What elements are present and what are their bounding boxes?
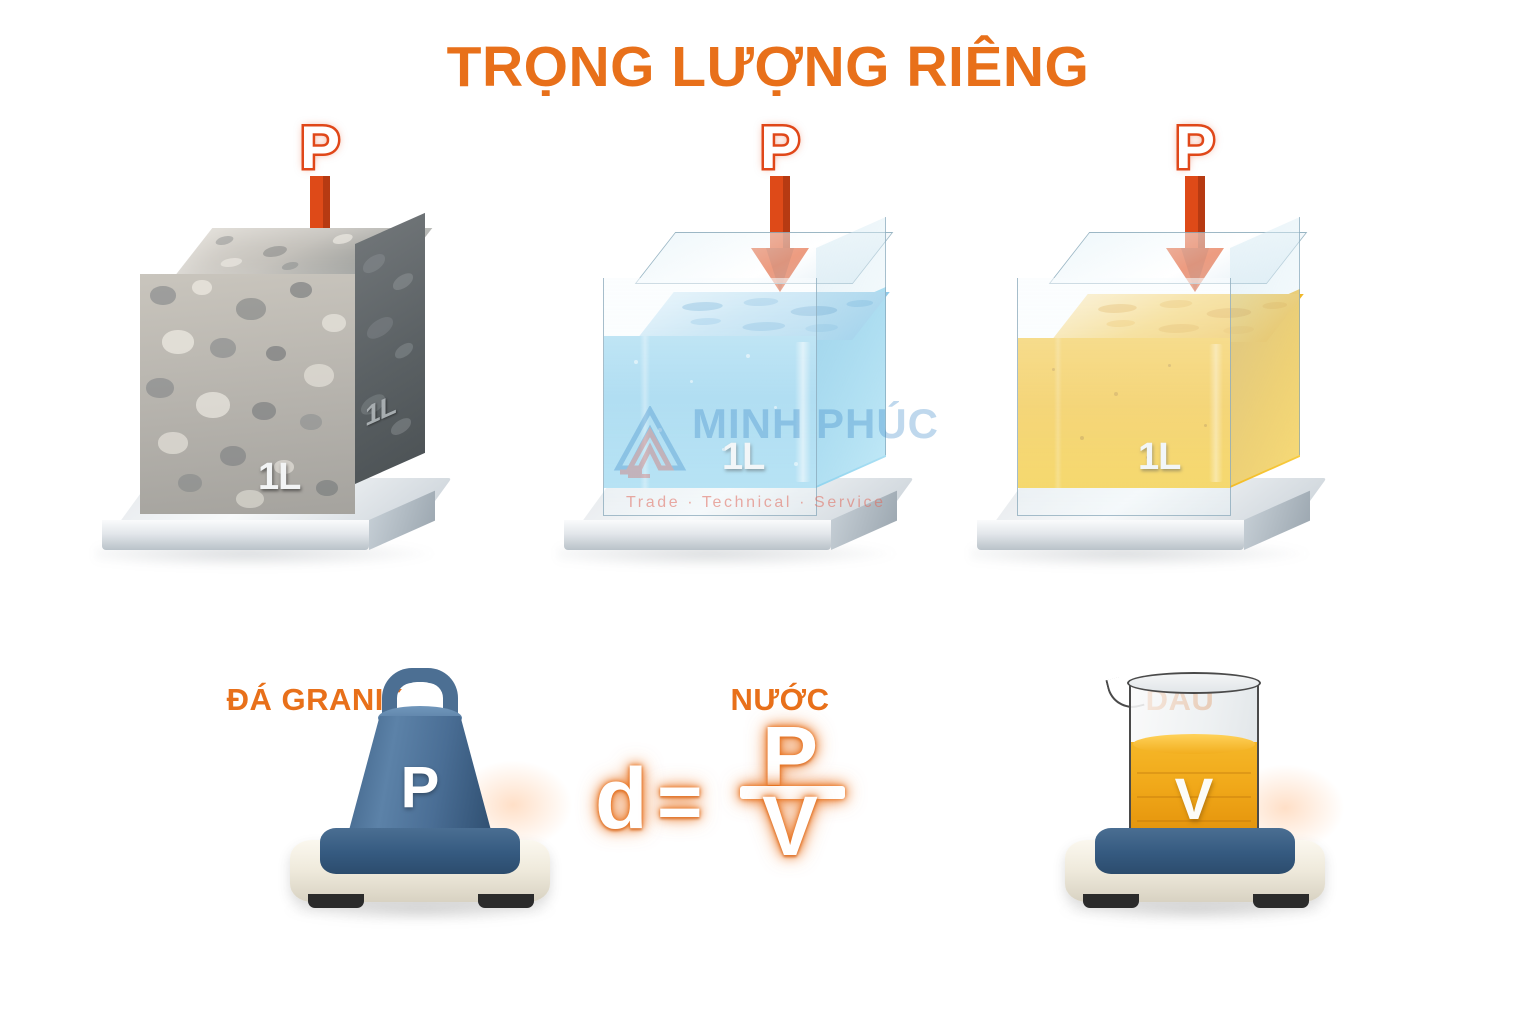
- scale-foot: [308, 894, 364, 908]
- plinth-front: [564, 520, 831, 550]
- plinth-front: [102, 520, 369, 550]
- beaker-rim: [1127, 672, 1261, 694]
- scale-left: [290, 818, 550, 918]
- scale-right: [1065, 818, 1325, 918]
- force-label-water: P: [725, 118, 835, 178]
- volume-label-granite: 1L: [258, 456, 300, 499]
- scale-plate: [1095, 828, 1295, 874]
- beaker-liquid-surface: [1133, 734, 1255, 754]
- force-label-granite: P: [265, 118, 375, 178]
- glass-highlight: [1209, 344, 1223, 482]
- tank-side-glass: [1230, 217, 1300, 486]
- glass-highlight: [795, 342, 811, 482]
- formula-d-equals-p-over-v: d = P V: [585, 722, 885, 882]
- granite-front-face: 1L: [140, 274, 355, 514]
- scale-foot: [1253, 894, 1309, 908]
- formula-equals-sign: =: [657, 762, 703, 840]
- scale-foot: [1083, 894, 1139, 908]
- formula-variable: d: [595, 756, 648, 842]
- tank-front-glass: [1017, 278, 1231, 516]
- page-title: TRỌNG LƯỢNG RIÊNG: [0, 34, 1536, 100]
- weight-label: P: [348, 754, 492, 821]
- tank-front-glass: [603, 278, 817, 516]
- formula-denominator: V: [745, 784, 835, 868]
- force-label-oil: P: [1140, 118, 1250, 178]
- granite-side-face: 1L: [355, 213, 425, 484]
- plinth-front: [977, 520, 1244, 550]
- scale-foot: [478, 894, 534, 908]
- tank-side-glass: [816, 217, 886, 486]
- specimen-granite: P: [80, 110, 550, 630]
- specimen-oil: P 1L: [985, 110, 1455, 630]
- specimen-water: P: [545, 110, 1015, 630]
- scale-plate: [320, 828, 520, 874]
